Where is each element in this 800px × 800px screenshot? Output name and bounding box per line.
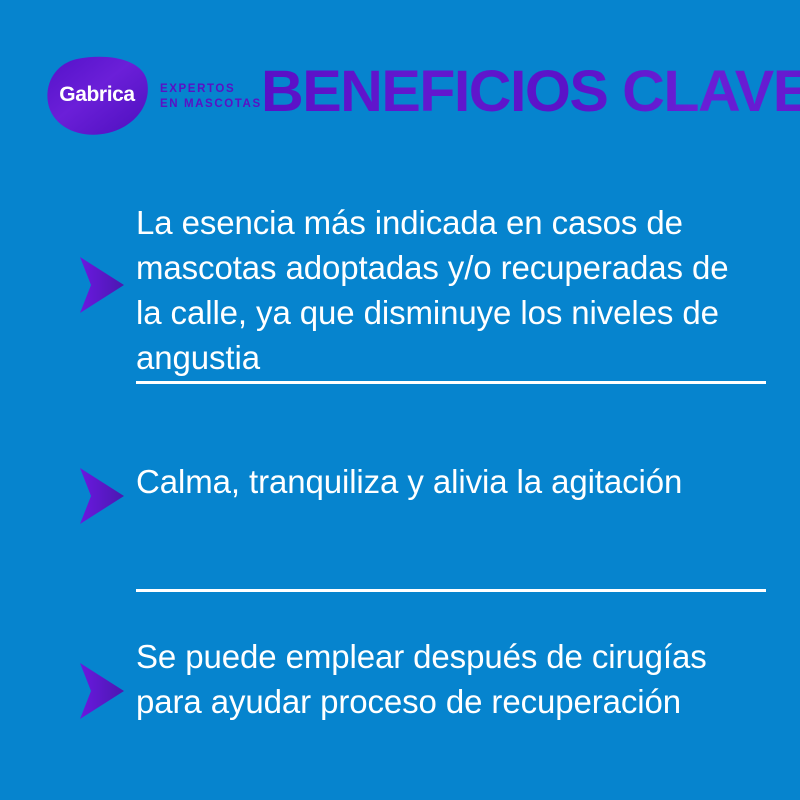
brand-tagline: EXPERTOS EN MASCOTAS bbox=[160, 82, 262, 112]
divider-after-benefit-2 bbox=[136, 589, 766, 592]
gabrica-logo: Gabrica bbox=[46, 55, 150, 135]
divider-after-benefit-1 bbox=[136, 381, 766, 384]
tagline-line-2: EN MASCOTAS bbox=[160, 97, 262, 112]
benefit-text: Se puede emplear después de cirugías par… bbox=[136, 634, 756, 724]
tagline-line-1: EXPERTOS bbox=[160, 83, 235, 95]
page-title: BENEFICIOS CLAVE bbox=[261, 62, 800, 122]
card-header: Gabrica EXPERTOS EN MASCOTAS BENEFICIOS … bbox=[0, 0, 800, 160]
chevron-arrow-icon bbox=[78, 662, 126, 720]
chevron-arrow-icon bbox=[78, 467, 126, 525]
benefit-text: La esencia más indicada en casos de masc… bbox=[136, 200, 756, 380]
gabrica-logo-wordmark: Gabrica bbox=[46, 55, 150, 135]
chevron-arrow-icon bbox=[78, 256, 126, 314]
benefit-text: Calma, tranquiliza y alivia la agitación bbox=[136, 459, 756, 504]
benefits-infographic-card: Gabrica EXPERTOS EN MASCOTAS BENEFICIOS … bbox=[0, 0, 800, 800]
